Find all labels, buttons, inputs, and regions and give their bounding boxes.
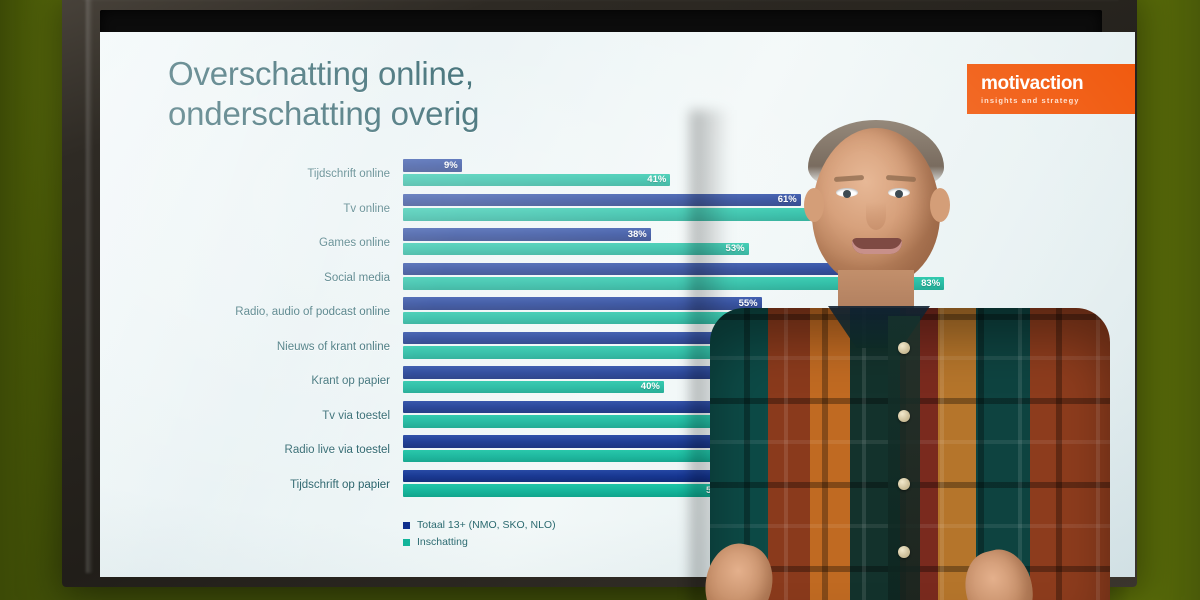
- chart-row: Tijdschrift op papier50%: [160, 468, 1060, 503]
- bar-inschatting: 41%: [403, 174, 670, 187]
- chart-bar-group: 55%61%: [403, 297, 1060, 328]
- legend-item: Totaal 13+ (NMO, SKO, NLO): [403, 519, 556, 531]
- bar-value-label: 63%: [791, 450, 810, 461]
- bar-value-label: 60%: [771, 367, 790, 378]
- chart-bar-group: 61%76%: [403, 194, 1060, 225]
- bar-inschatting: 63%: [403, 450, 814, 463]
- bar-value-label: 61%: [778, 194, 797, 205]
- bar-value-label: 61%: [778, 312, 797, 323]
- bar-inschatting: 40%: [403, 381, 664, 394]
- chart-row: Tv online61%76%: [160, 192, 1060, 227]
- chart-bar-group: 9%41%: [403, 159, 1060, 190]
- bar-totaal: [403, 470, 977, 483]
- chart-row: Tijdschrift online9%41%: [160, 157, 1060, 192]
- chart-row: Games online38%53%: [160, 226, 1060, 261]
- legend-item: Inschatting: [403, 536, 556, 548]
- bar-value-label: 50%: [706, 485, 725, 496]
- bar-value-label: 53%: [726, 243, 745, 254]
- chart-row: Radio, audio of podcast online55%61%: [160, 295, 1060, 330]
- horizontal-bar-chart: Tijdschrift online9%41%Tv online61%76%Ga…: [160, 157, 1060, 502]
- chart-category-label: Tv online: [160, 203, 390, 215]
- chart-row: Social media73%83%: [160, 261, 1060, 296]
- bar-totaal: 61%: [403, 194, 801, 207]
- bar-totaal: 38%: [403, 228, 651, 241]
- presentation-slide: Overschatting online, onderschatting ove…: [100, 32, 1135, 577]
- bar-value-label: 55%: [739, 298, 758, 309]
- bar-totaal: 60%: [403, 366, 794, 379]
- bar-totaal: 69%: [403, 332, 853, 345]
- chart-category-label: Tijdschrift op papier: [160, 479, 390, 491]
- bar-inschatting: 76%: [403, 208, 899, 221]
- bar-value-label: 41%: [647, 174, 666, 185]
- chart-category-label: Radio, audio of podcast online: [160, 306, 390, 318]
- bar-value-label: 73%: [856, 263, 875, 274]
- chart-bar-group: 63%: [403, 435, 1060, 466]
- chart-bar-group: 79%: [403, 401, 1060, 432]
- chart-category-label: Games online: [160, 237, 390, 249]
- motivaction-logo: motivaction insights and strategy: [967, 64, 1135, 114]
- bar-value-label: 79%: [895, 416, 914, 427]
- logo-tagline: insights and strategy: [981, 96, 1135, 105]
- slide-title-line-1: Overschatting online,: [168, 54, 788, 94]
- bar-totaal: [403, 401, 1029, 414]
- bar-totaal: 55%: [403, 297, 762, 310]
- bezel-highlight: [86, 0, 93, 573]
- chart-category-label: Tv via toestel: [160, 410, 390, 422]
- bar-inschatting: 50%: [403, 484, 729, 497]
- legend-swatch-icon: [403, 539, 410, 546]
- chart-row: Tv via toestel79%: [160, 399, 1060, 434]
- chart-bar-group: 60%40%: [403, 366, 1060, 397]
- bar-value-label: 69%: [830, 332, 849, 343]
- legend-label: Totaal 13+ (NMO, SKO, NLO): [417, 519, 556, 531]
- slide-title-line-2: onderschatting overig: [168, 94, 788, 134]
- chart-legend: Totaal 13+ (NMO, SKO, NLO)Inschatting: [403, 519, 556, 553]
- chart-row: Nieuws of krant online69%71%: [160, 330, 1060, 365]
- legend-swatch-icon: [403, 522, 410, 529]
- chart-category-label: Nieuws of krant online: [160, 341, 390, 353]
- screenshot-stage: Overschatting online, onderschatting ove…: [0, 0, 1200, 600]
- chart-row: Radio live via toestel63%: [160, 433, 1060, 468]
- bar-value-label: 83%: [921, 278, 940, 289]
- chart-bar-group: 73%83%: [403, 263, 1060, 294]
- bar-value-label: 38%: [628, 229, 647, 240]
- chart-category-label: Krant op papier: [160, 375, 390, 387]
- bar-inschatting: 79%: [403, 415, 918, 428]
- chart-category-label: Radio live via toestel: [160, 444, 390, 456]
- chart-category-label: Tijdschrift online: [160, 168, 390, 180]
- legend-label: Inschatting: [417, 536, 468, 548]
- bezel-top-highlight: [82, 0, 1119, 2]
- chart-category-label: Social media: [160, 272, 390, 284]
- bar-totaal: 73%: [403, 263, 879, 276]
- chart-row: Krant op papier60%40%: [160, 364, 1060, 399]
- bar-inschatting: 61%: [403, 312, 801, 325]
- bar-inschatting: 53%: [403, 243, 749, 256]
- bar-value-label: 9%: [444, 160, 458, 171]
- chart-bar-group: 50%: [403, 470, 1060, 501]
- bar-value-label: 71%: [843, 347, 862, 358]
- bar-value-label: 40%: [641, 381, 660, 392]
- bar-totaal: 9%: [403, 159, 462, 172]
- bar-inschatting: 83%: [403, 277, 944, 290]
- bar-totaal: [403, 435, 1003, 448]
- bar-value-label: 76%: [876, 209, 895, 220]
- bar-inschatting: 71%: [403, 346, 866, 359]
- logo-wordmark: motivaction: [981, 74, 1135, 93]
- slide-title: Overschatting online, onderschatting ove…: [168, 54, 788, 135]
- chart-bar-group: 38%53%: [403, 228, 1060, 259]
- chart-bar-group: 69%71%: [403, 332, 1060, 363]
